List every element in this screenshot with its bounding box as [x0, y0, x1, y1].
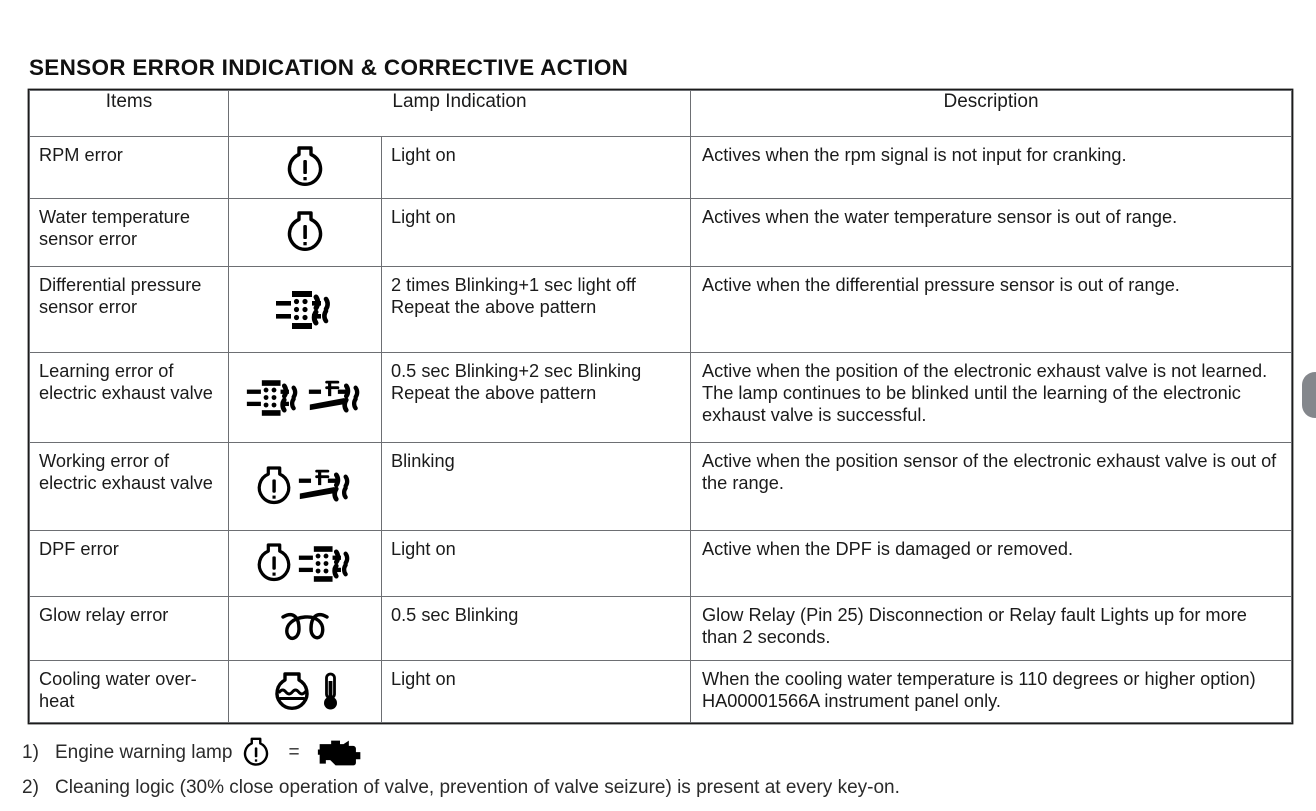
cell-item: Working error of electric exhaust valve: [30, 443, 228, 500]
table-row: DPF error: [30, 531, 1292, 597]
sensor-error-table: Items Lamp Indication Description RPM er…: [29, 90, 1292, 723]
engine-block-icon: [317, 736, 363, 770]
cell-lamp-icons: [229, 353, 382, 443]
cell-description: Active when the DPF is damaged or remove…: [691, 531, 1291, 566]
footnote-2-text: Cleaning logic (30% close operation of v…: [55, 777, 900, 799]
footnote-2: 2) Cleaning logic (30% close operation o…: [22, 770, 1202, 805]
warning-lamp-icon: [255, 541, 293, 587]
cell-lamp-text: Light on: [382, 531, 690, 566]
table-row: RPM error Light on Actives when the r: [30, 137, 1292, 199]
thermometer-icon: [322, 671, 339, 713]
cell-lamp-icons: [229, 199, 382, 267]
table-row: Glow relay error 0.5 sec Blinking Glow R…: [30, 597, 1292, 661]
warning-lamp-icon: [285, 209, 325, 257]
column-header-lamp-indication: Lamp Indication: [229, 91, 691, 137]
dpf-filter-icon: [274, 288, 336, 332]
cell-item: DPF error: [30, 531, 228, 566]
cell-lamp-text: Light on: [382, 661, 690, 696]
table-body: RPM error Light on Actives when the r: [30, 137, 1292, 723]
table-row: Water temperature sensor error Light on: [30, 199, 1292, 267]
cell-lamp-icons: [229, 267, 382, 353]
table-header-row: Items Lamp Indication Description: [30, 91, 1292, 137]
cell-lamp-icons: [229, 531, 382, 597]
cell-item: Water temperature sensor error: [30, 199, 228, 256]
cell-lamp-text: 0.5 sec Blinking+2 sec Blinking Repeat t…: [382, 353, 690, 410]
cell-lamp-text: 2 times Blinking+1 sec light off Repeat …: [382, 267, 690, 324]
footnote-1: 1) Engine warning lamp =: [22, 735, 1202, 770]
cell-lamp-text: 0.5 sec Blinking: [382, 597, 690, 632]
cell-description: Active when the position sensor of the e…: [691, 443, 1291, 500]
cell-item: RPM error: [30, 137, 228, 172]
footnotes: 1) Engine warning lamp = 2) Cleaning log…: [22, 735, 1202, 805]
cell-lamp-icons: [229, 443, 382, 531]
cell-description: Actives when the rpm signal is not input…: [691, 137, 1291, 172]
table-row: Cooling water over-heat: [30, 661, 1292, 723]
cell-item: Cooling water over-heat: [30, 661, 228, 718]
dpf-filter-icon: [245, 377, 303, 419]
warning-lamp-icon: [241, 736, 271, 770]
footnote-equals-sign: =: [280, 742, 307, 764]
document-page: SENSOR ERROR INDICATION & CORRECTIVE ACT…: [0, 0, 1316, 811]
page-title: SENSOR ERROR INDICATION & CORRECTIVE ACT…: [29, 55, 628, 81]
column-header-description: Description: [691, 91, 1292, 137]
cell-lamp-text: Light on: [382, 199, 690, 234]
warning-lamp-icon: [255, 464, 293, 510]
table-row: Differential pressure sensor error: [30, 267, 1292, 353]
footnote-2-number: 2): [22, 777, 46, 799]
cell-description: Glow Relay (Pin 25) Disconnection or Rel…: [691, 597, 1291, 654]
cell-lamp-icons: [229, 597, 382, 661]
exhaust-valve-icon: [307, 377, 365, 419]
cell-item: Differential pressure sensor error: [30, 267, 228, 324]
exhaust-valve-icon: [297, 466, 355, 508]
cell-lamp-icons: [229, 661, 382, 723]
footnote-1-number: 1): [22, 742, 46, 764]
table-row: Learning error of electric exhaust valve: [30, 353, 1292, 443]
glow-plug-icon: [277, 609, 333, 649]
footnote-1-text: Engine warning lamp: [55, 742, 232, 764]
scroll-position-indicator[interactable]: [1302, 372, 1316, 418]
warning-lamp-icon: [285, 144, 325, 192]
cell-description: When the cooling water temperature is 11…: [691, 661, 1291, 718]
coolant-temp-icon: [271, 671, 317, 713]
cell-description: Active when the differential pressure se…: [691, 267, 1291, 302]
table-row: Working error of electric exhaust valve: [30, 443, 1292, 531]
cell-item: Glow relay error: [30, 597, 228, 632]
column-header-items: Items: [30, 91, 229, 137]
cell-description: Active when the position of the electron…: [691, 353, 1291, 433]
cell-lamp-icons: [229, 137, 382, 199]
cell-lamp-text: Light on: [382, 137, 690, 172]
cell-lamp-text: Blinking: [382, 443, 690, 478]
cell-description: Actives when the water temperature senso…: [691, 199, 1291, 234]
cell-item: Learning error of electric exhaust valve: [30, 353, 228, 410]
dpf-filter-icon: [297, 543, 355, 585]
